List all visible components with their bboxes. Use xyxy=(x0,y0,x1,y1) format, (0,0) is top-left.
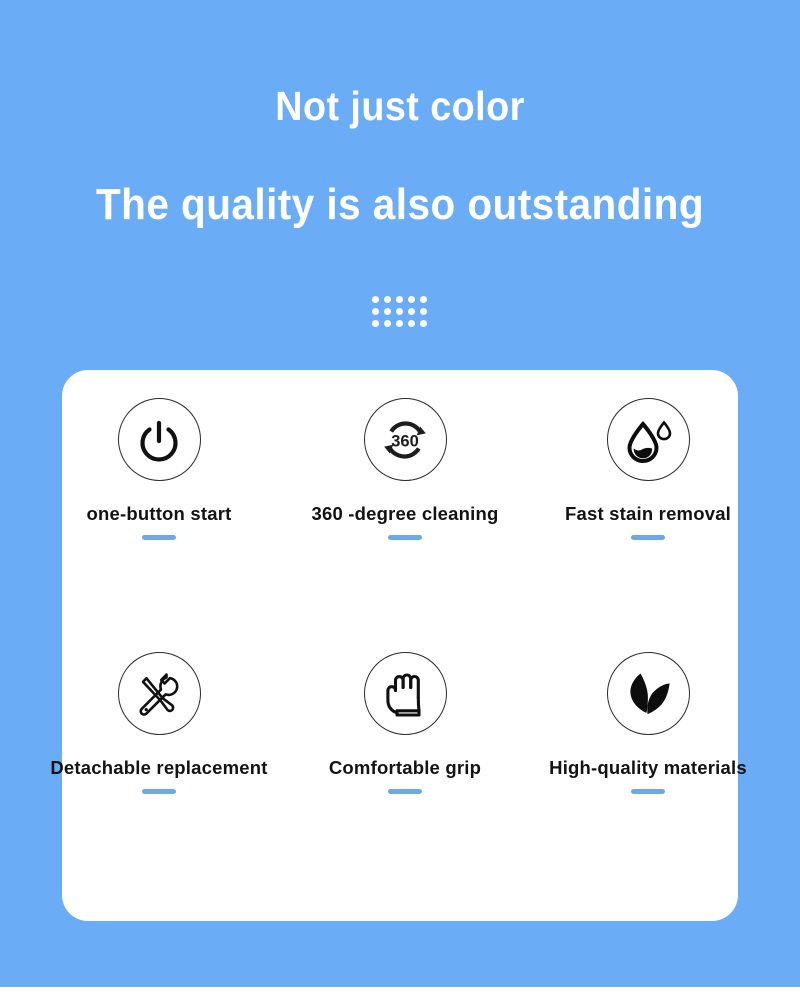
feature-label: High-quality materials xyxy=(533,757,763,779)
feature-underline xyxy=(631,535,665,540)
ornament-dot xyxy=(408,320,415,327)
leaves-icon xyxy=(607,652,690,735)
page-title-secondary: The quality is also outstanding xyxy=(32,179,768,232)
page-title-primary: Not just color xyxy=(32,82,768,131)
ornament-dot xyxy=(408,296,415,303)
feature-grid: one-button start 360 360 -degree cleanin… xyxy=(62,370,738,921)
feature-underline xyxy=(388,789,422,794)
ornament-dot xyxy=(396,308,403,315)
power-button-icon xyxy=(118,398,201,481)
ornament-dot xyxy=(396,320,403,327)
feature-label: 360 -degree cleaning xyxy=(290,503,520,525)
ornament-dot xyxy=(372,308,379,315)
ornament-dot xyxy=(420,296,427,303)
ornament-dot xyxy=(408,308,415,315)
ornament-dot xyxy=(384,308,391,315)
feature-label: Fast stain removal xyxy=(533,503,763,525)
water-drop-icon xyxy=(607,398,690,481)
feature-item-360-degree-cleaning[interactable]: 360 360 -degree cleaning xyxy=(290,398,520,540)
feature-item-detachable-replacement[interactable]: Detachable replacement xyxy=(44,652,274,794)
wrench-screwdriver-icon xyxy=(118,652,201,735)
rotation-360-icon: 360 xyxy=(364,398,447,481)
promo-page: Not just color The quality is also outst… xyxy=(0,0,800,994)
feature-item-comfortable-grip[interactable]: Comfortable grip xyxy=(290,652,520,794)
feature-label: one-button start xyxy=(44,503,274,525)
feature-underline xyxy=(142,535,176,540)
gripping-hand-icon xyxy=(364,652,447,735)
feature-label: Detachable replacement xyxy=(44,757,274,779)
feature-underline xyxy=(388,535,422,540)
feature-underline xyxy=(631,789,665,794)
ornament-dot xyxy=(420,308,427,315)
ornament-dot xyxy=(396,296,403,303)
rotation-icon-text: 360 xyxy=(391,432,419,450)
ornament-dot xyxy=(384,320,391,327)
ornament-dot xyxy=(420,320,427,327)
feature-label: Comfortable grip xyxy=(290,757,520,779)
feature-card: one-button start 360 360 -degree cleanin… xyxy=(62,370,738,921)
ornament-dot xyxy=(372,320,379,327)
feature-item-one-button-start[interactable]: one-button start xyxy=(44,398,274,540)
ornament-dot xyxy=(384,296,391,303)
heading-block: Not just color The quality is also outst… xyxy=(0,82,800,232)
feature-underline xyxy=(142,789,176,794)
feature-item-high-quality-materials[interactable]: High-quality materials xyxy=(533,652,763,794)
dot-grid-ornament xyxy=(372,296,427,327)
feature-item-fast-stain-removal[interactable]: Fast stain removal xyxy=(533,398,763,540)
ornament-dot xyxy=(372,296,379,303)
